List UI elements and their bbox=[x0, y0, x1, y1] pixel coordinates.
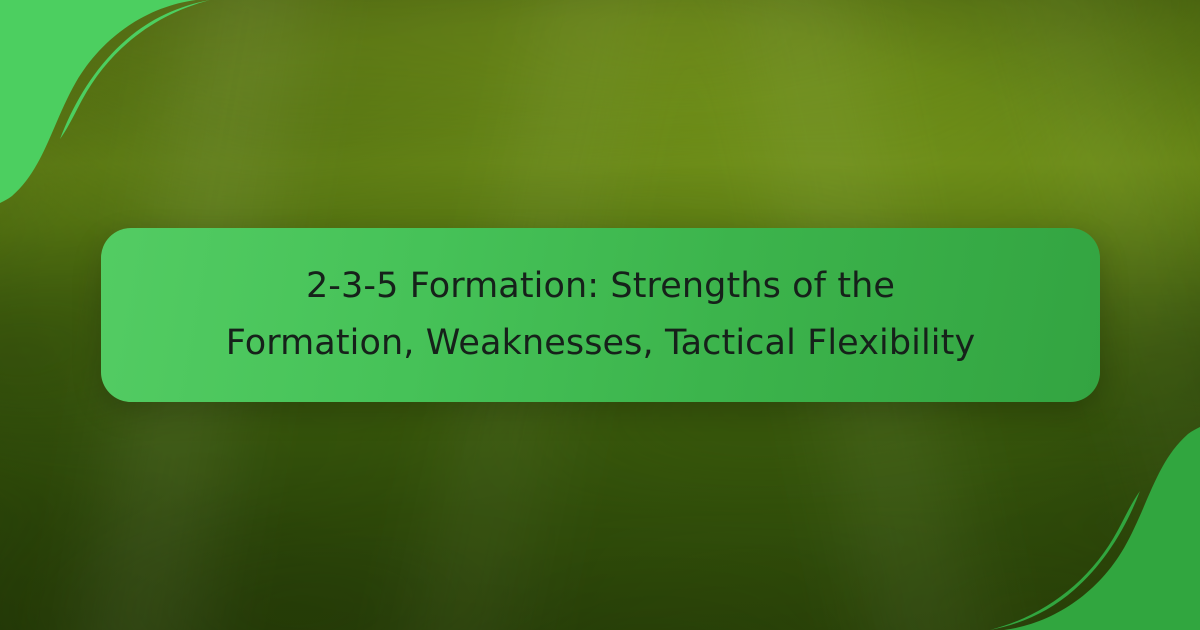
social-card-canvas: 2-3-5 Formation: Strengths of the Format… bbox=[0, 0, 1200, 630]
top-left-leaf-accent bbox=[0, 0, 260, 260]
page-title: 2-3-5 Formation: Strengths of the Format… bbox=[211, 258, 991, 371]
leaf-blob-shape bbox=[0, 0, 196, 203]
title-card: 2-3-5 Formation: Strengths of the Format… bbox=[101, 228, 1100, 402]
leaf-blob-shape bbox=[1004, 427, 1200, 630]
bottom-right-leaf-accent bbox=[940, 370, 1200, 630]
